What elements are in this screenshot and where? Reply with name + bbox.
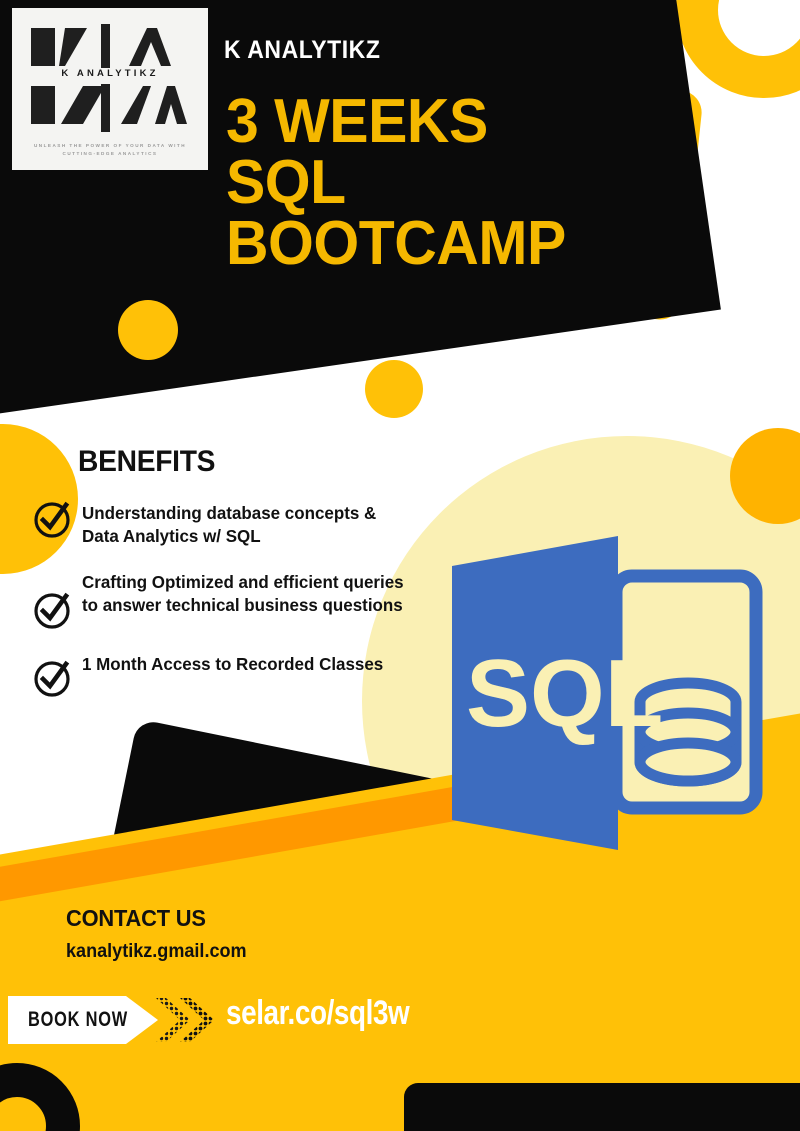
title-line-2: SQL — [226, 153, 566, 214]
check-circle-icon — [32, 589, 74, 631]
list-item: Crafting Optimized and efficient queries… — [32, 567, 428, 631]
benefits-heading: BENEFITS — [78, 445, 215, 479]
contact-heading: CONTACT US — [66, 905, 206, 932]
list-item: 1 Month Access to Recorded Classes — [32, 649, 428, 699]
benefit-text: Understanding database concepts & Data A… — [82, 498, 418, 549]
poster-canvas: K ANALYTIKZ Unleash the power of your da… — [0, 0, 800, 1131]
decor-dot-upper — [118, 300, 178, 360]
check-circle-icon — [32, 498, 74, 540]
decor-bar-bottom-right — [404, 1083, 800, 1131]
logo-monogram-icon: K ANALYTIKZ — [25, 20, 195, 136]
title-line-1: 3 WEEKS — [226, 92, 566, 153]
contact-email[interactable]: kanalytikz.gmail.com — [66, 941, 247, 963]
logo-wordmark: K ANALYTIKZ — [25, 68, 195, 79]
check-circle-icon — [32, 657, 74, 699]
brand-logo: K ANALYTIKZ Unleash the power of your da… — [12, 8, 208, 170]
title-line-3: BOOTCAMP — [226, 214, 566, 275]
book-now-label: BOOK NOW — [28, 1008, 128, 1032]
benefit-text: Crafting Optimized and efficient queries… — [82, 567, 418, 618]
svg-text:SQL: SQL — [466, 640, 663, 747]
logo-tagline: Unleash the power of your data with cutt… — [22, 142, 198, 159]
cta-url[interactable]: selar.co/sql3w — [226, 994, 409, 1033]
sql-database-folder-icon: SQL — [430, 520, 776, 880]
brand-name: K ANALYTIKZ — [224, 36, 380, 65]
benefits-list: Understanding database concepts & Data A… — [32, 498, 428, 717]
benefit-text: 1 Month Access to Recorded Classes — [82, 649, 383, 676]
decor-dot-lower — [365, 360, 423, 418]
list-item: Understanding database concepts & Data A… — [32, 498, 428, 549]
decor-ring-top-right — [676, 0, 800, 98]
page-title: 3 WEEKS SQL BOOTCAMP — [226, 92, 566, 274]
book-now-button[interactable]: BOOK NOW — [8, 996, 158, 1044]
